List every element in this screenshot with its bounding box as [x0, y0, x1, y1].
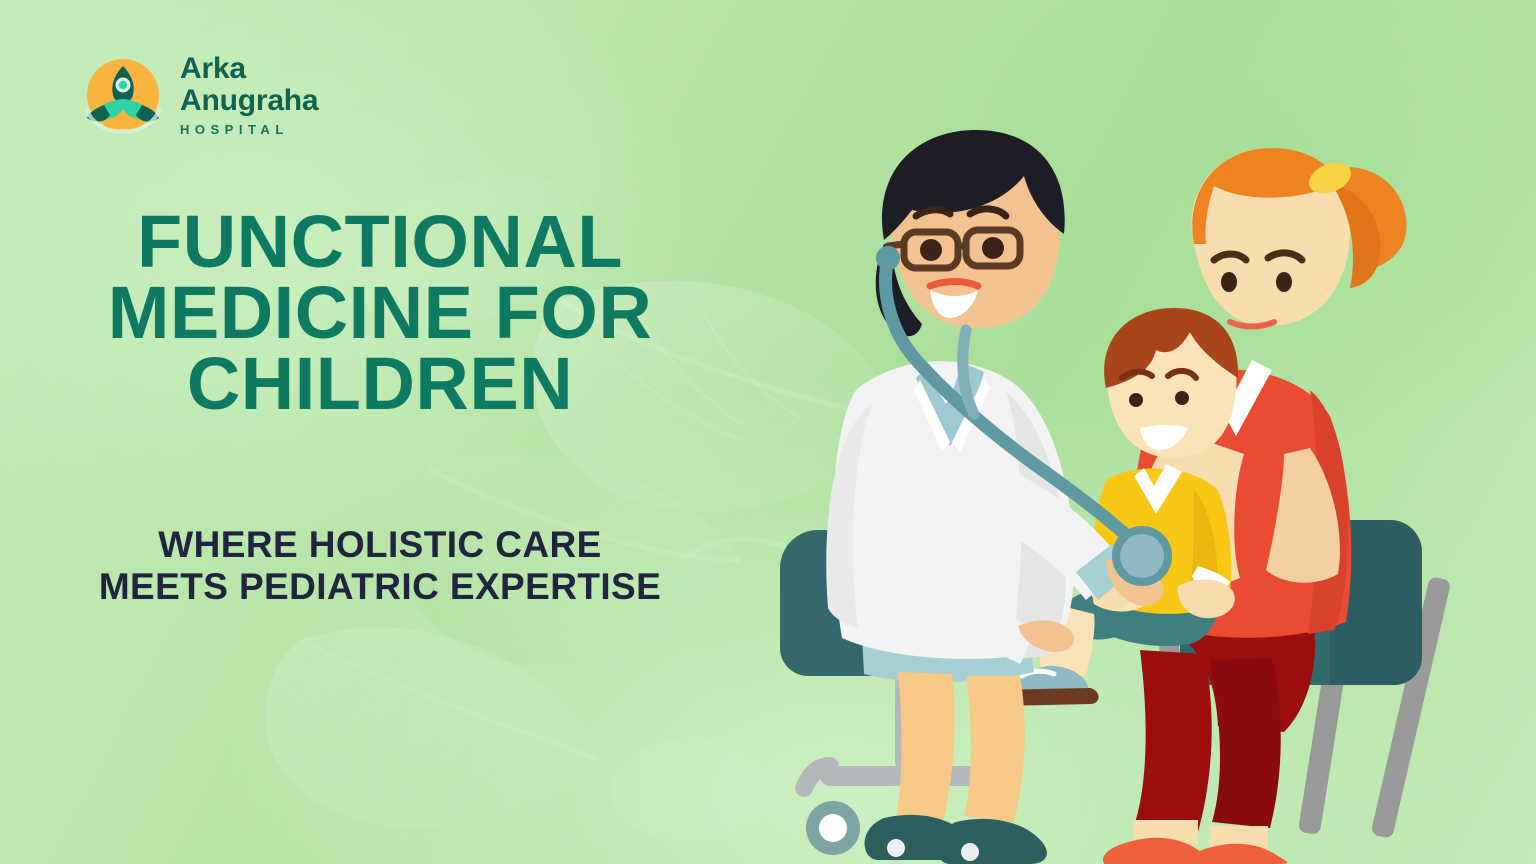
headline-line-1: FUNCTIONAL: [0, 206, 760, 277]
mother-shoe-right: [1183, 844, 1287, 864]
mother-eye-left: [1221, 272, 1237, 292]
logo-mark-svg: [80, 52, 166, 138]
illustration-svg: [770, 0, 1536, 864]
mother-eye-right: [1276, 272, 1292, 292]
poster-canvas: Arka Anugraha HOSPITAL FUNCTIONAL MEDICI…: [0, 0, 1536, 864]
mother-shin-right: [1210, 658, 1281, 828]
child-eye-left: [1129, 393, 1143, 407]
subheadline-line-2: MEETS PEDIATRIC EXPERTISE: [0, 566, 760, 608]
doctor-shoe-right: [937, 819, 1047, 864]
stethoscope-chestpiece: [1116, 530, 1168, 582]
logo-inner-dot: [119, 81, 127, 89]
doctor-leg-left: [896, 672, 955, 826]
lotus-meditation-mark-icon: [80, 52, 166, 138]
headline: FUNCTIONAL MEDICINE FOR CHILDREN: [0, 206, 760, 419]
stethoscope-earpiece: [876, 246, 900, 270]
headline-line-2: MEDICINE FOR: [0, 277, 760, 348]
subheadline-line-1: WHERE HOLISTIC CARE: [0, 524, 760, 566]
brand-subtitle: HOSPITAL: [180, 123, 318, 136]
mother-shin-left: [1134, 650, 1212, 832]
brand-name-line1: Arka: [180, 54, 318, 84]
doctor-leg-right: [964, 676, 1025, 822]
illustration: [770, 0, 1536, 864]
doctor-heel-left: [887, 839, 905, 857]
brand-name-line2: Anugraha: [180, 86, 318, 116]
doctor-heel-right: [961, 843, 979, 861]
subheadline: WHERE HOLISTIC CARE MEETS PEDIATRIC EXPE…: [0, 524, 760, 608]
caster-wheel-hub: [819, 814, 847, 842]
brand-wordmark: Arka Anugraha HOSPITAL: [180, 54, 318, 136]
child-eye-right: [1175, 391, 1189, 405]
headline-line-3: CHILDREN: [0, 348, 760, 419]
brand-logo[interactable]: Arka Anugraha HOSPITAL: [80, 52, 318, 138]
